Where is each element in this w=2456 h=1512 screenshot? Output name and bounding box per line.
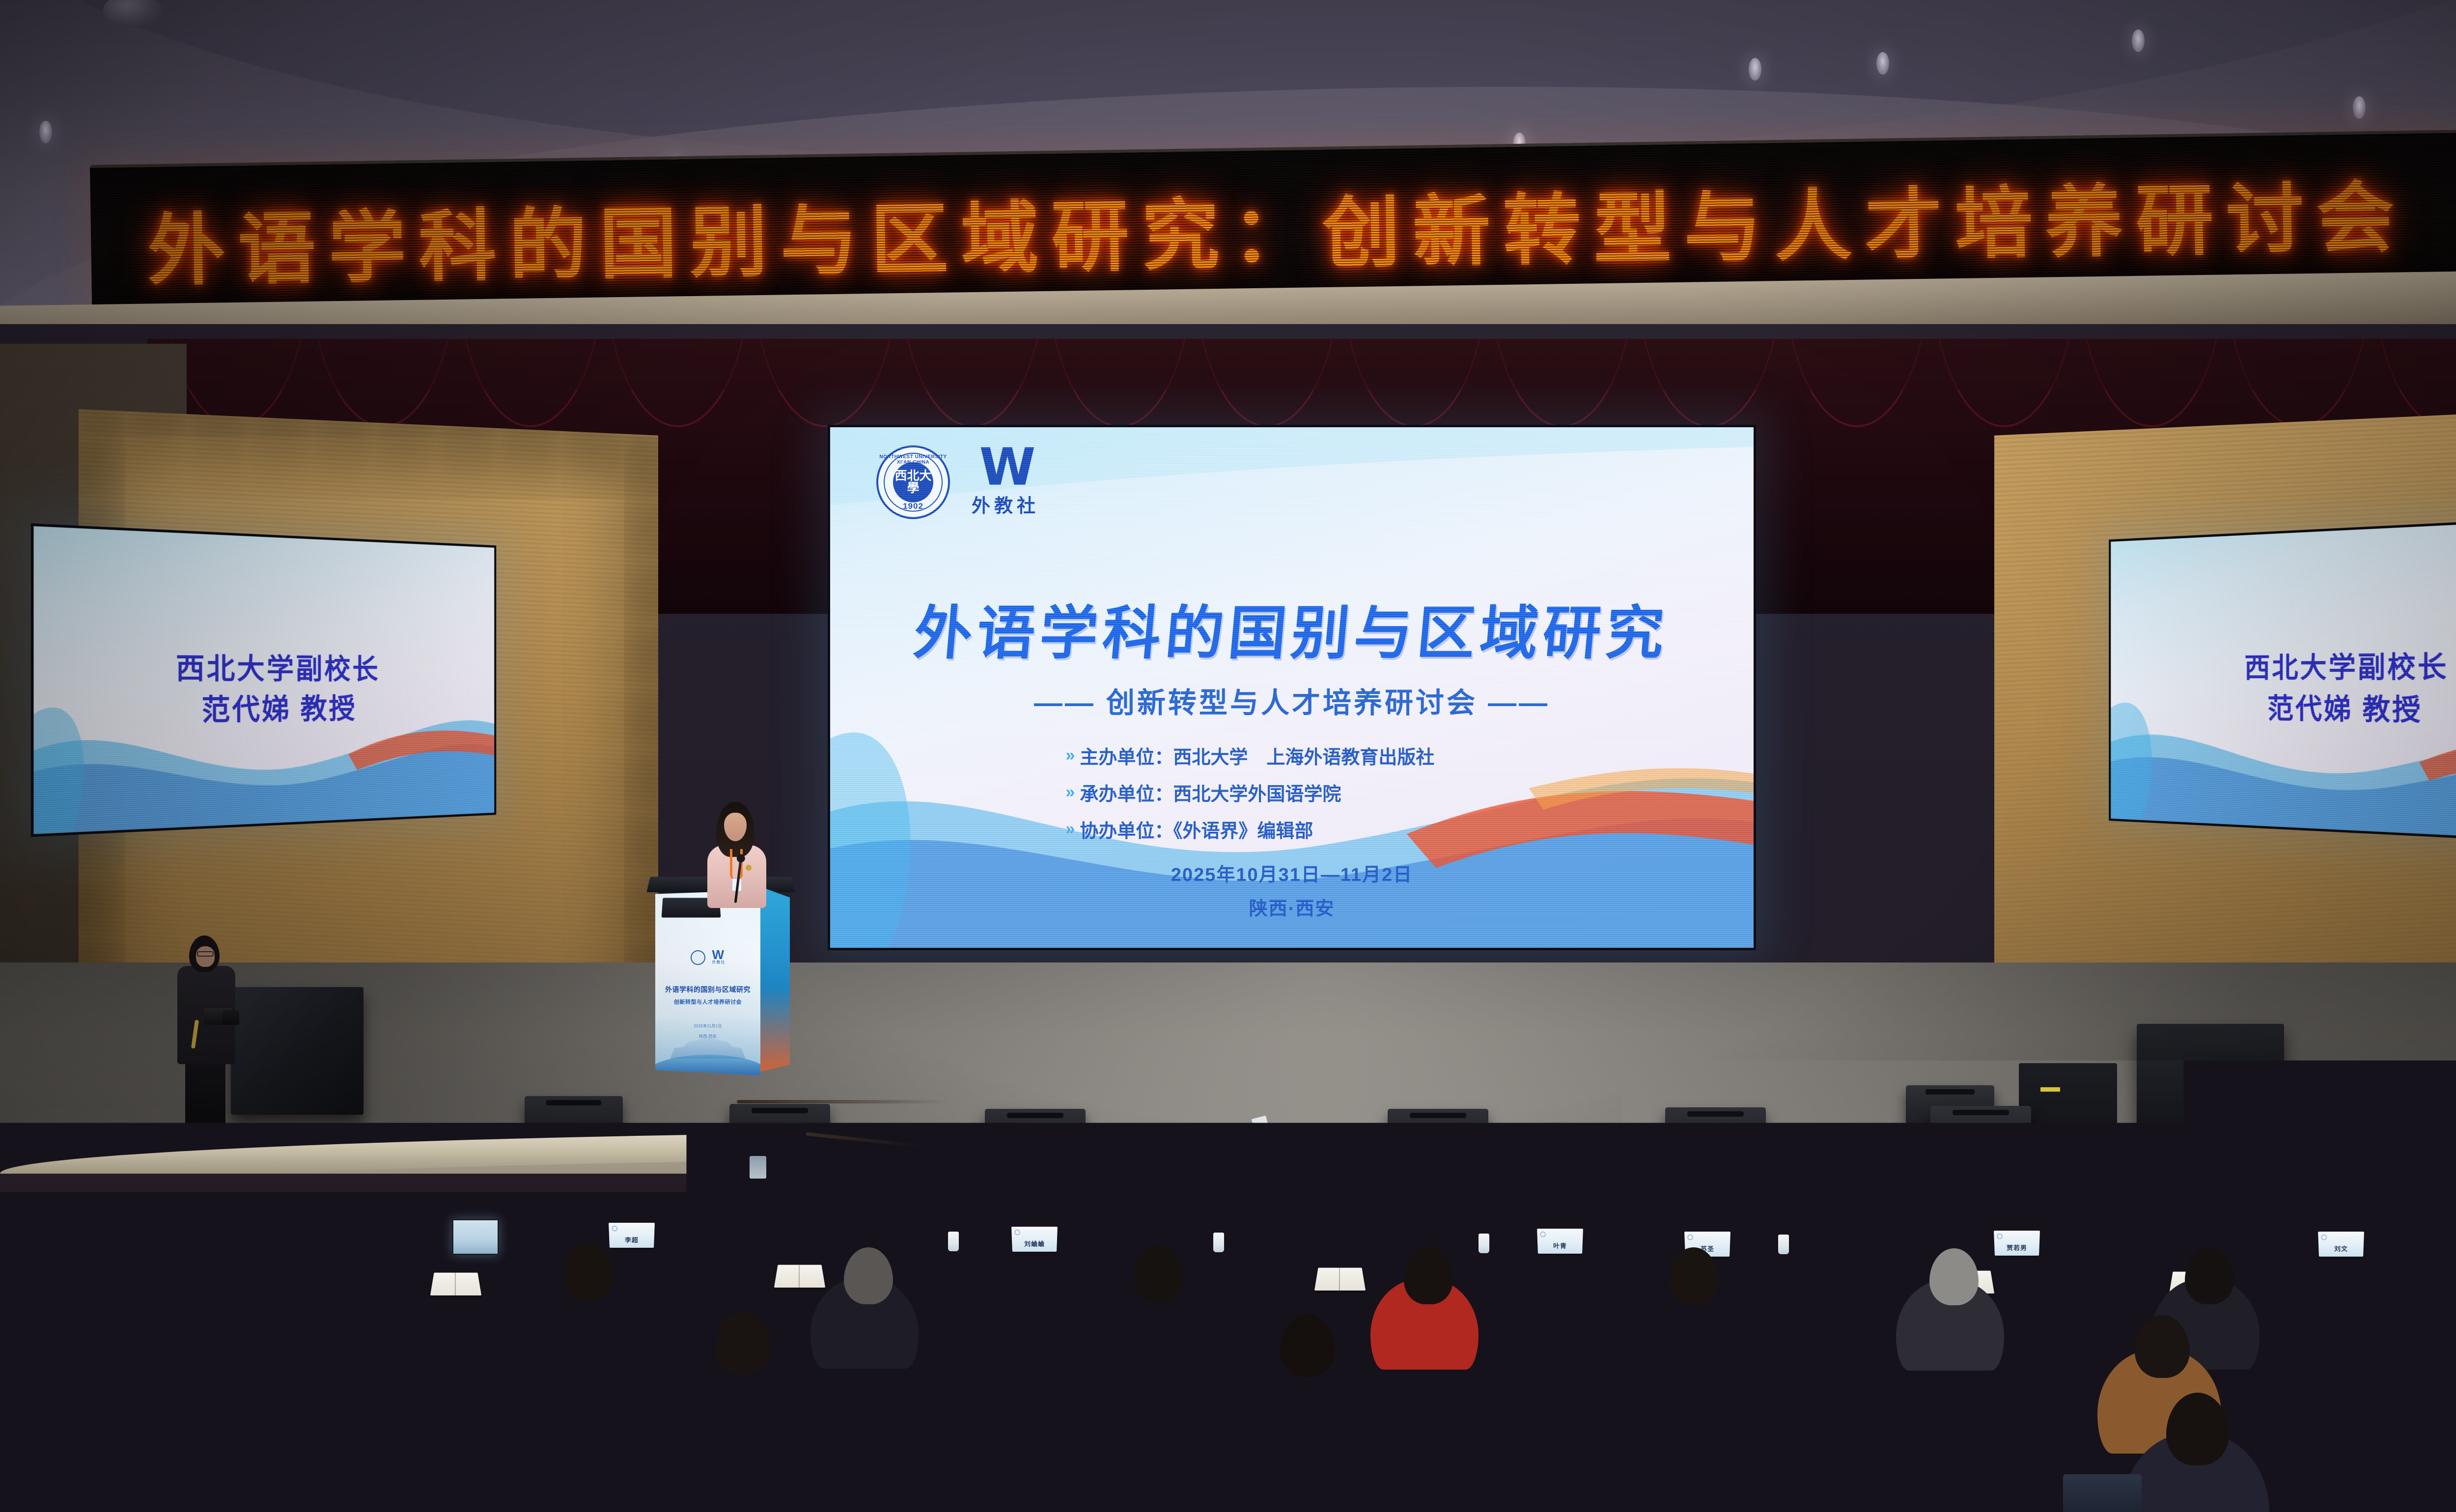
seal-mark-icon (612, 1226, 617, 1231)
slide-location: 陕西·西安 (830, 893, 1754, 920)
audience-member (1570, 1315, 1625, 1378)
downlight-icon (1749, 58, 1761, 81)
publisher-mark: W (979, 447, 1032, 488)
water-cup (948, 1232, 959, 1251)
auditorium-seat (1518, 1474, 1596, 1512)
slide-subtitle: —— 创新转型与人才培养研讨会 —— (830, 680, 1754, 721)
name-card: 叶青 (1537, 1229, 1583, 1254)
water-cup (545, 1228, 556, 1247)
side-slide-right: 西北大学副校长 范代娣 教授 (2111, 517, 2456, 844)
av-cable (737, 1100, 948, 1103)
audience-member (160, 1307, 214, 1369)
podium-title: 外语学科的国别与区域研究 (655, 985, 760, 994)
water-cup (1479, 1234, 1489, 1253)
camera-lens-icon (223, 1010, 239, 1025)
slide-date: 2025年10月31日—11月2日 (830, 859, 1754, 886)
seal-mark-icon (1997, 1234, 2002, 1239)
organizer-list: » 主办单位：西北大学 上海外语教育出版社 » 承办单位：西北大学外国语学院 »… (1065, 742, 1434, 843)
name-card-text: 李超 (609, 1235, 654, 1244)
side-slide-left: 西北大学副校长 范代娣 教授 (33, 526, 494, 834)
seal-center-text: 西北大學 (893, 462, 933, 502)
chevron-double-right-icon: » (1065, 783, 1070, 802)
audience-member (430, 1311, 485, 1374)
name-card-text: 刘文 (2318, 1244, 2364, 1253)
auditorium-seat (2063, 1474, 2142, 1512)
audience-member (715, 1312, 770, 1375)
name-card: 刘蛐蛐 (1011, 1227, 1058, 1252)
university-seal-icon: NORTHWEST UNIVERSITY XI'AN CHINA 西北大學 19… (876, 445, 950, 519)
organizer-label: 主办单位：西北大学 上海外语教育出版社 (1080, 742, 1434, 769)
audience-member (1000, 1313, 1055, 1376)
organizer-label: 承办单位：西北大学外国语学院 (1080, 779, 1341, 806)
seal-mark-icon (1687, 1235, 1693, 1240)
chevron-double-right-icon: » (1065, 746, 1070, 765)
publisher-name: 外教社 (712, 960, 726, 965)
stage-speaker-cabinet-left (231, 987, 363, 1115)
organizer-row: » 协办单位：《外语界》编辑部 (1065, 816, 1434, 843)
podium-front-panel: W 外教社 外语学科的国别与区域研究 创新转型与人才培养研讨会 2025年11月… (655, 890, 760, 1075)
water-cup (1213, 1233, 1224, 1252)
name-card: 贾若男 (1994, 1231, 2040, 1256)
auditorium-seat (472, 1472, 550, 1512)
auditorium-scene: 外语学科的国别与区域研究：创新转型与人才培养研讨会 (0, 0, 2456, 1512)
rack-warning-label (2040, 1087, 2060, 1092)
seal-ring-text: NORTHWEST UNIVERSITY XI'AN CHINA (878, 454, 948, 465)
name-card-text: 叶青 (1537, 1241, 1583, 1250)
main-slide: NORTHWEST UNIVERSITY XI'AN CHINA 西北大學 19… (830, 427, 1754, 948)
conference-program (1314, 1268, 1366, 1291)
downlight-icon (2353, 96, 2366, 119)
audience-member (1370, 1394, 1433, 1466)
lapel-pin-icon (746, 865, 752, 871)
conference-program (430, 1273, 481, 1295)
audience-area: 李超 刘蛐蛐 叶青 贾若男 苏圣 刘文 (0, 1174, 2456, 1512)
water-cup (2255, 1235, 2265, 1254)
name-card: 刘文 (2318, 1232, 2364, 1257)
chevron-double-right-icon: » (1065, 820, 1070, 839)
audience-member (1105, 1393, 1168, 1465)
seal-mark-icon (1540, 1232, 1545, 1237)
podium-subtitle: 创新转型与人才培养研讨会 (655, 998, 760, 1006)
publisher-mark: W (712, 950, 726, 960)
slide-title: 外语学科的国别与区域研究 (830, 586, 1754, 670)
presenter (707, 802, 766, 907)
podium-logo-group: W 外教社 (655, 950, 760, 965)
name-card: 李超 (609, 1223, 655, 1248)
name-card-text: 贾若男 (1994, 1243, 2039, 1252)
downlight-icon (2132, 29, 2145, 52)
organizer-row: » 承办单位：西北大学外国语学院 (1065, 779, 1434, 806)
slide-logo-group: NORTHWEST UNIVERSITY XI'AN CHINA 西北大學 19… (876, 445, 1039, 519)
audience-member (575, 1389, 638, 1461)
publisher-logo-icon: W 外教社 (972, 447, 1039, 518)
auditorium-seat (206, 1468, 285, 1512)
side-slide-line1: 西北大学副校长 (2111, 641, 2456, 686)
seal-mark-icon (2321, 1235, 2326, 1240)
downlight-icon (1876, 52, 1889, 75)
podium-date: 2025年11月1日 (655, 1023, 760, 1029)
side-slide-line2: 范代娣 教授 (2111, 686, 2456, 732)
downlight-icon (39, 121, 52, 143)
audience-laptop[interactable] (452, 1219, 499, 1255)
audience-member (1280, 1314, 1335, 1377)
side-display-right: 西北大学副校长 范代娣 教授 (2109, 514, 2456, 846)
side-slide-line1: 西北大学副校长 (33, 643, 494, 688)
university-seal-icon (691, 950, 705, 965)
audience-member (319, 1385, 382, 1457)
side-display-left: 西北大学副校长 范代娣 教授 (31, 523, 496, 837)
audience-member (1850, 1314, 1905, 1377)
audience-member (840, 1391, 903, 1463)
name-card-text: 刘蛐蛐 (1012, 1239, 1057, 1248)
photographer-legs (185, 1058, 225, 1129)
side-slide-line2: 范代娣 教授 (33, 686, 494, 731)
conference-program (774, 1265, 825, 1288)
photographer-face (196, 946, 215, 967)
organizer-row: » 主办单位：西北大学 上海外语教育出版社 (1065, 742, 1434, 769)
podium-location: 陕西·西安 (655, 1034, 760, 1039)
seal-year-text: 1902 (878, 501, 948, 511)
water-cup (1778, 1235, 1789, 1254)
organizer-label: 协办单位：《外语界》编辑部 (1080, 816, 1313, 843)
water-cup (334, 1231, 345, 1250)
eyeglasses-icon (197, 951, 214, 957)
main-projection-screen: NORTHWEST UNIVERSITY XI'AN CHINA 西北大學 19… (828, 425, 1756, 950)
seal-mark-icon (1014, 1230, 1020, 1235)
podium-side-panel (759, 886, 790, 1072)
photographer (174, 935, 238, 1129)
